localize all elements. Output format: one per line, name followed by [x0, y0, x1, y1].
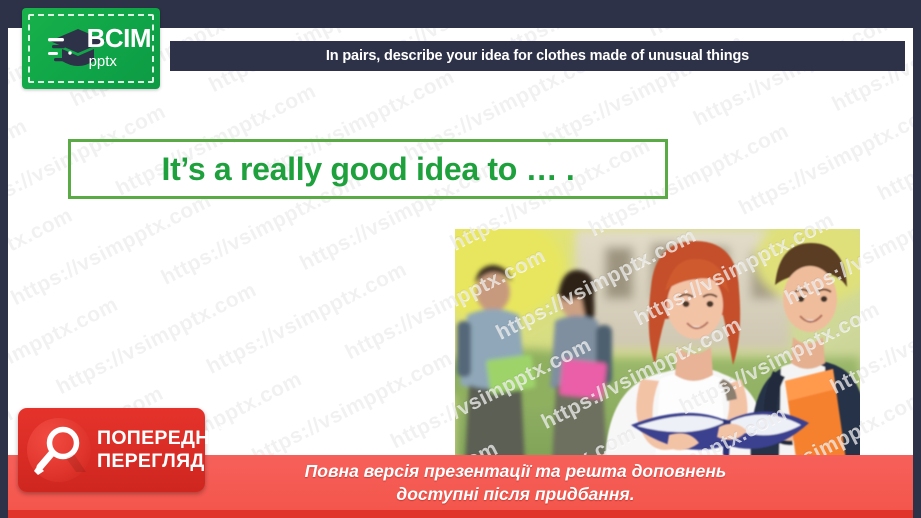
watermark-text: https://vsimpptx.com: [735, 75, 913, 220]
watermark-text: https://vsimpptx.com: [8, 269, 168, 414]
preview-label-line-1: ПОПЕРЕДНІЙ: [97, 429, 230, 449]
watermark-text: https://vsimpptx.com: [8, 180, 123, 325]
slide-frame: It’s a really good idea to … . https://v…: [0, 0, 921, 518]
right-frame-edge: [913, 0, 921, 518]
watermark-text: https://vsimpptx.com: [203, 234, 457, 379]
students-photo: [455, 229, 860, 464]
preview-label-line-2: ПЕРЕГЛЯД: [97, 452, 230, 472]
banner-line-2: доступні після придбання.: [396, 483, 634, 505]
page-title: In pairs, describe your idea for clothes…: [326, 48, 749, 64]
logo-name-main: BCIM: [87, 25, 151, 51]
left-frame-edge: [0, 0, 8, 518]
watermark-text: https://vsimpptx.com: [53, 255, 307, 400]
logo-name-sub: pptx: [89, 54, 151, 69]
magnifier-icon: [27, 418, 91, 482]
vsimpptx-logo[interactable]: BCIM pptx: [22, 8, 160, 89]
slide-title-bar: In pairs, describe your idea for clothes…: [170, 41, 905, 71]
banner-line-1: Повна версія презентації та решта доповн…: [305, 460, 727, 482]
phrase-box: It’s a really good idea to … .: [68, 139, 668, 199]
preview-badge-labels: ПОПЕРЕДНІЙ ПЕРЕГЛЯД: [97, 429, 230, 471]
banner-bottom-strip: [0, 510, 921, 518]
watermark-text: https://vsimpptx.com: [874, 61, 913, 206]
watermark-text: https://vsimpptx.com: [8, 91, 77, 236]
watermark-text: https://vsimpptx.com: [644, 28, 898, 42]
watermark-text: https://vsimpptx.com: [8, 290, 18, 435]
logo-wordmark: BCIM pptx: [87, 25, 151, 69]
preview-badge[interactable]: ПОПЕРЕДНІЙ ПЕРЕГЛЯД: [18, 408, 205, 492]
phrase-text: It’s a really good idea to … .: [161, 151, 574, 188]
